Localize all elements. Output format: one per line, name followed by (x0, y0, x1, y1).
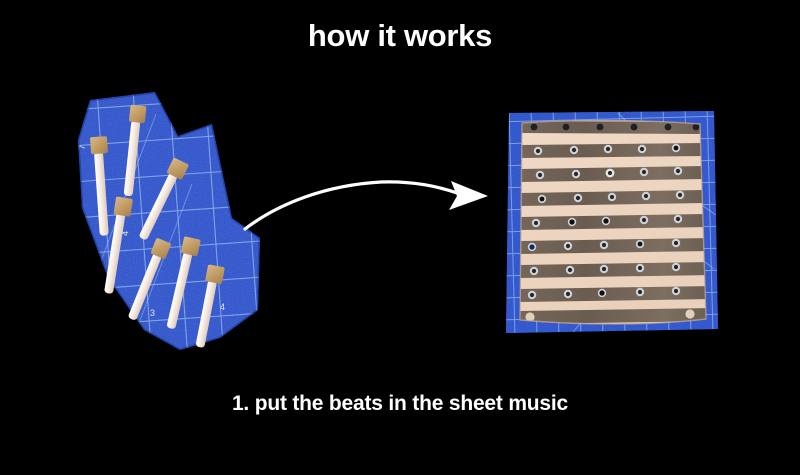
photo-sheet-music (500, 105, 722, 337)
how-it-works-slide: how it works (0, 0, 800, 475)
mat-label-4b: 4 (220, 302, 225, 312)
cutting-mat: 7 4 3 4 (60, 88, 260, 350)
photo-beats-on-mat: 7 4 3 4 (60, 88, 260, 350)
mat-label-3: 3 (150, 308, 155, 318)
beats-photo-svg: 7 4 3 4 (60, 88, 260, 350)
sheet-music-photo-svg (500, 105, 722, 337)
curved-arrow-right-icon (235, 165, 500, 245)
strip-row (520, 143, 706, 158)
step-caption: 1. put the beats in the sheet music (0, 390, 800, 418)
flow-arrow (235, 165, 500, 245)
sheet-music-cloth (500, 105, 722, 337)
page-title: how it works (0, 16, 800, 56)
